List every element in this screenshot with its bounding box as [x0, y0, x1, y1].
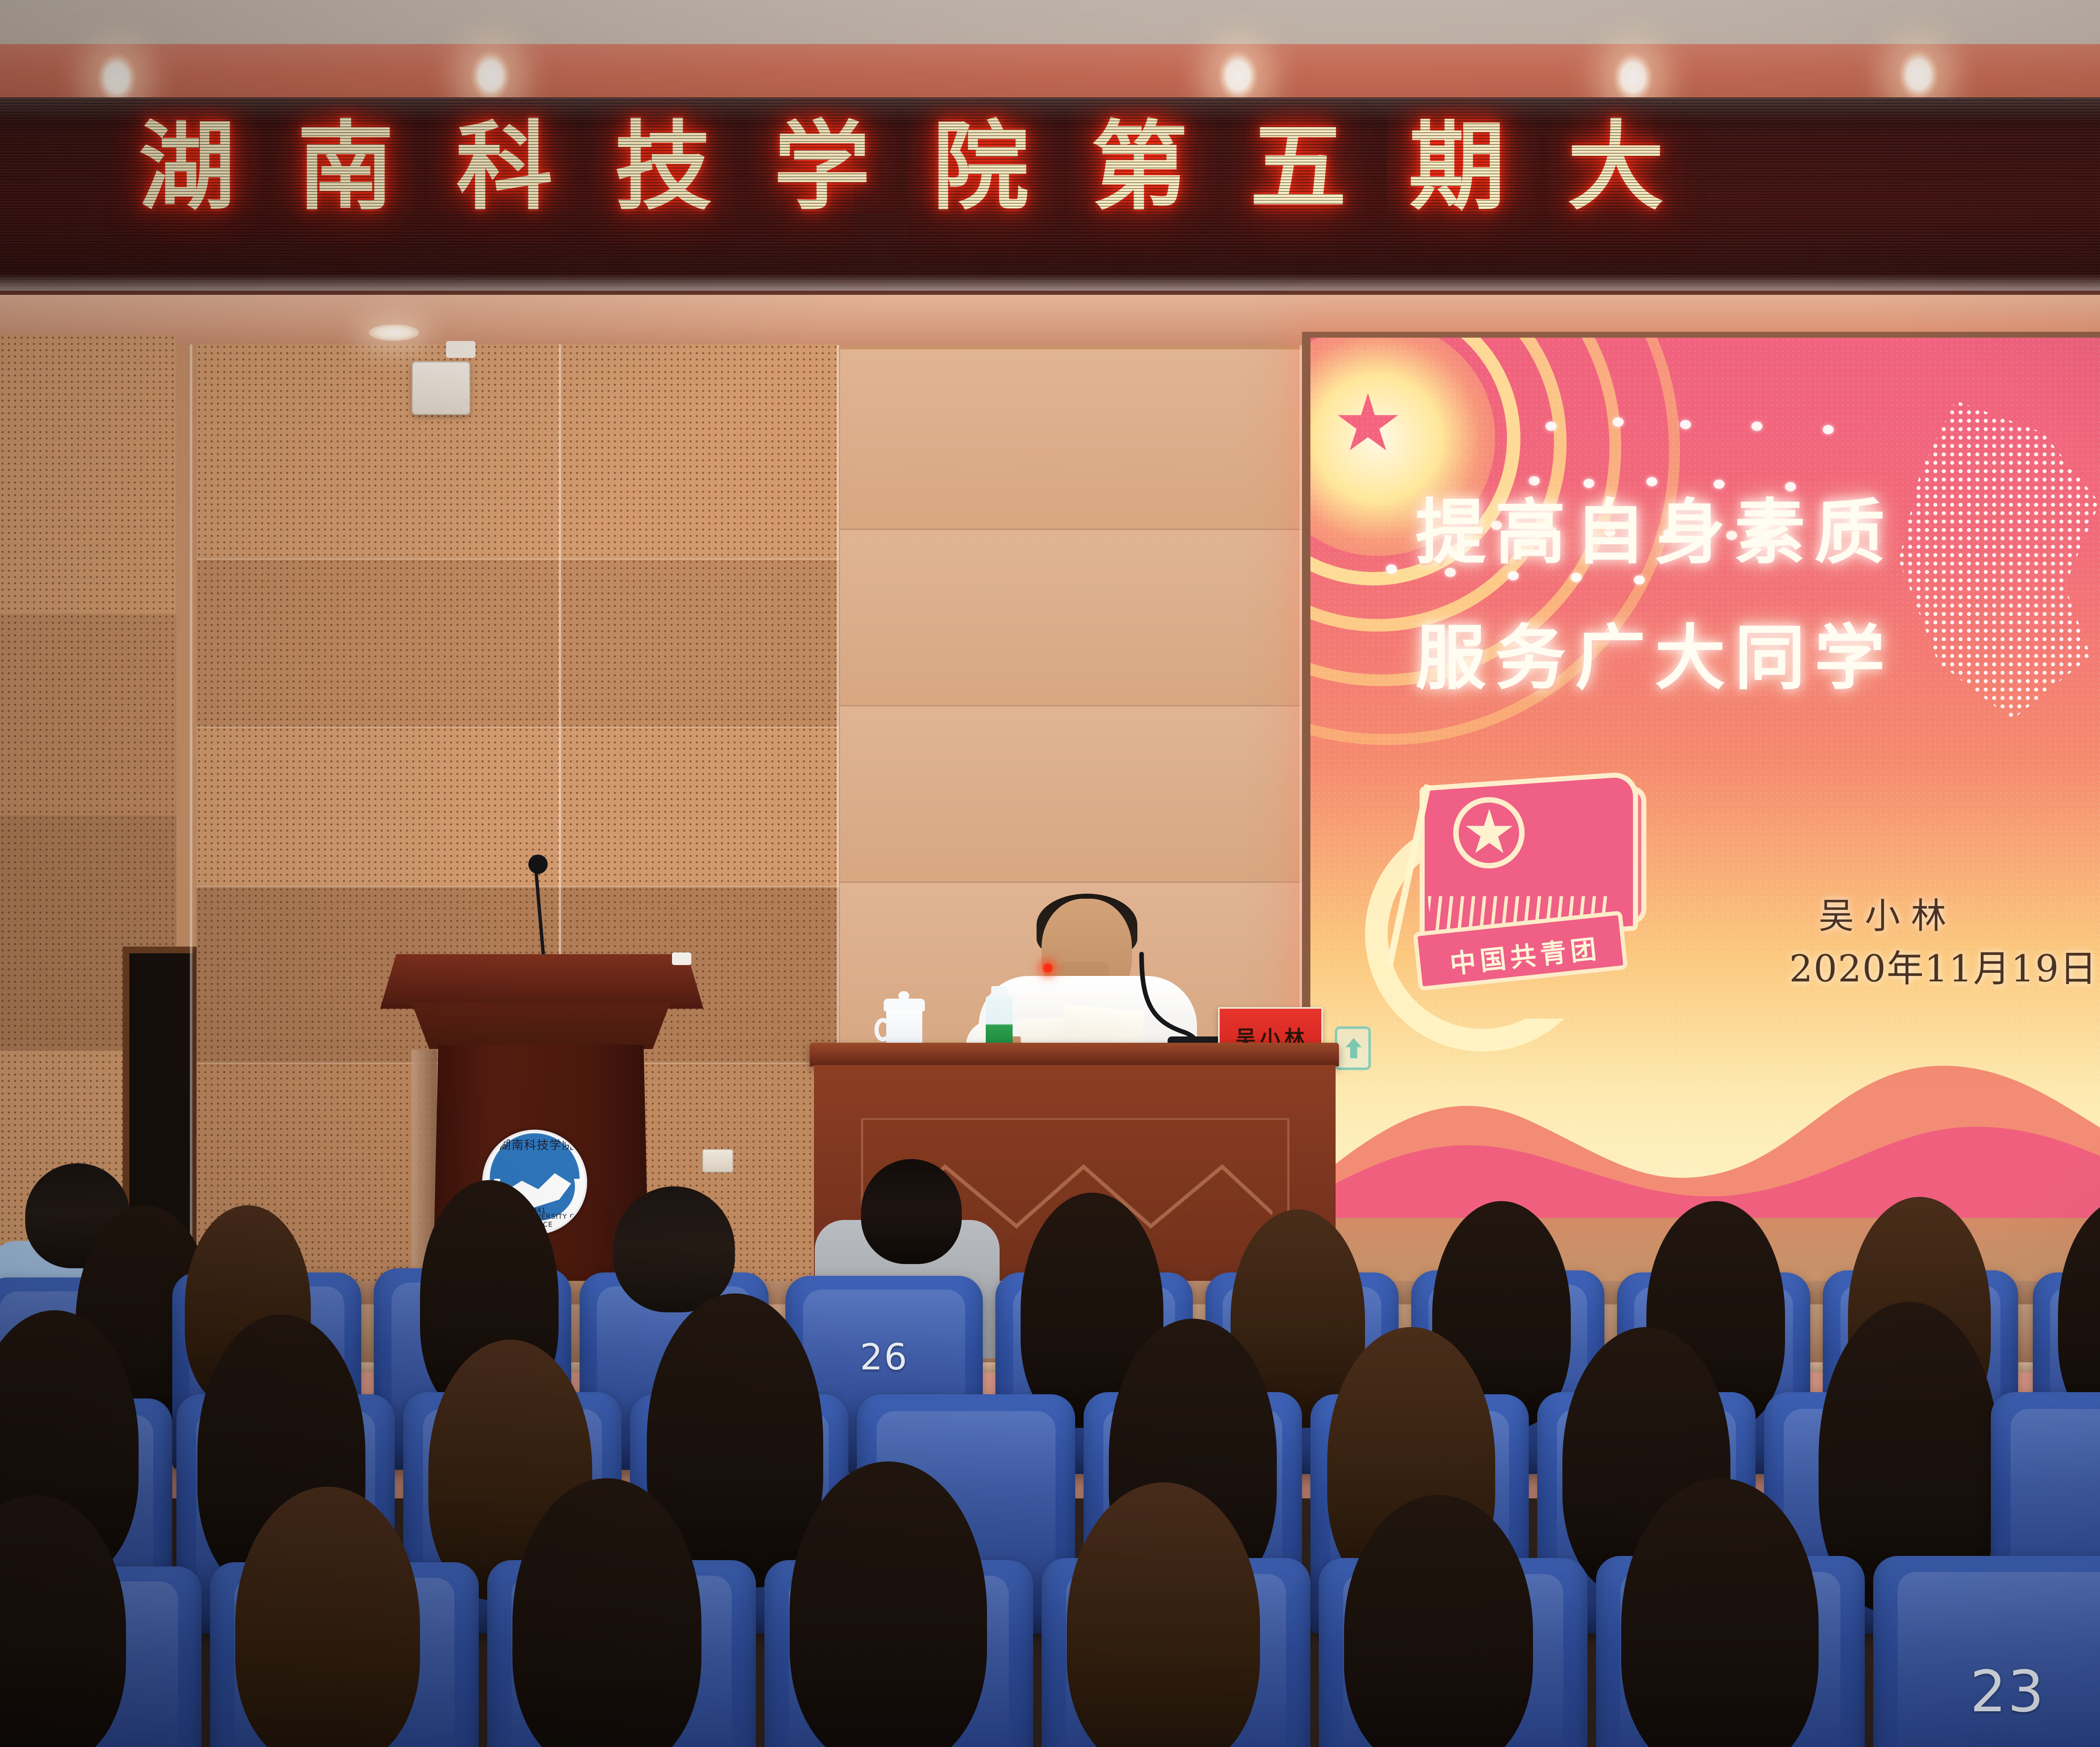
acoustic-panel	[197, 727, 839, 887]
speaker-bracket	[446, 341, 475, 358]
podium-microphone-icon	[528, 855, 548, 874]
audience-head	[861, 1159, 962, 1264]
ceiling-cove	[0, 44, 2100, 105]
mountain-wave-front	[1310, 1058, 2100, 1218]
projection-screen: 中国共青团 提高自身素质 服务广大同学 吴小林 2020年11月19日	[1310, 338, 2100, 1218]
slide-title: 提高自身素质 服务广大同学	[1415, 470, 1894, 721]
led-banner-underglow	[0, 274, 2100, 291]
recessed-ceiling-light	[369, 324, 419, 341]
seat-number: 26	[785, 1336, 983, 1378]
acoustic-panel	[0, 614, 176, 816]
panel-seam	[190, 344, 192, 1314]
wall-mounted-speaker	[412, 361, 470, 415]
acoustic-panel	[197, 559, 839, 727]
slide-title-line1: 提高自身素质	[1415, 470, 1894, 595]
ceiling-spotlight	[1898, 50, 1939, 100]
slide-author: 吴小林	[1819, 888, 1957, 939]
wall-socket[interactable]	[702, 1149, 733, 1173]
wall-flat-panel	[840, 530, 1302, 706]
recycle-mark-icon	[1335, 1026, 1371, 1070]
ceiling	[0, 0, 2100, 105]
ceiling-plane	[0, 0, 2100, 44]
seat-number: 23	[1873, 1659, 2100, 1725]
water-bottle-cap	[991, 986, 1007, 998]
panel-seam	[197, 886, 839, 887]
head-table-top	[810, 1043, 1339, 1066]
tea-mug-lid	[884, 999, 925, 1011]
ceiling-spotlight	[1613, 52, 1653, 102]
ceiling-spotlight	[1218, 50, 1258, 101]
wall-flat-panel	[840, 349, 1302, 530]
audience-head	[613, 1186, 735, 1312]
panel-seam	[197, 727, 839, 728]
communist-youth-league-emblem: 中国共青团	[1365, 770, 1667, 1064]
podium-top	[380, 954, 703, 1009]
seat[interactable]: 23	[1873, 1556, 2100, 1747]
led-banner: 湖南科技学院第五期大	[0, 97, 2100, 295]
emblem-ribbon-text: 中国共青团	[1419, 924, 1632, 984]
ceiling-spotlight	[470, 50, 511, 101]
ceiling-spotlight	[97, 53, 137, 103]
podium-control-tag[interactable]	[672, 952, 691, 965]
wall-flat-panel	[840, 706, 1302, 883]
podium-neck	[394, 1003, 688, 1049]
audience-hair	[790, 1461, 987, 1747]
auditorium-scene: 湖南科技学院第五期大	[0, 0, 2100, 1747]
panel-seam	[197, 559, 839, 560]
slide-date: 2020年11月19日	[1789, 939, 2097, 992]
slide-title-line2: 服务广大同学	[1415, 595, 1894, 721]
projection-screen-frame: 中国共青团 提高自身素质 服务广大同学 吴小林 2020年11月19日	[1302, 332, 2100, 1218]
microphone-status-led	[1043, 963, 1053, 973]
tea-mug-knob	[898, 991, 909, 1000]
logo-top-text: 湖南科技学院	[484, 1136, 587, 1153]
led-banner-text: 湖南科技学院第五期大	[139, 119, 2100, 216]
